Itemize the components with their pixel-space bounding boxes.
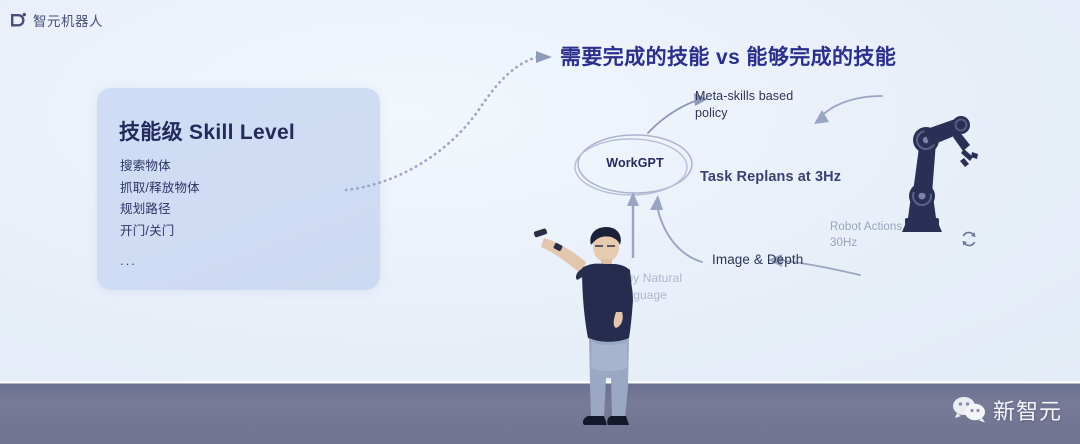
headline-text: 需要完成的技能 vs 能够完成的技能: [560, 46, 896, 69]
label-task-replans: Task Replans at 3Hz: [700, 169, 841, 185]
brand-logo: 智元机器人: [10, 10, 103, 30]
list-item-ellipsis: ...: [120, 250, 200, 272]
skill-level-card: 技能级 Skill Level 搜索物体 抓取/释放物体 规划路径 开门/关门 …: [97, 88, 380, 290]
watermark-text: 新智元: [993, 394, 1062, 426]
skill-card-title: 技能级 Skill Level: [119, 116, 295, 146]
wechat-bubbles-icon: [952, 396, 986, 424]
skill-card-list: 搜索物体 抓取/释放物体 规划路径 开门/关门 ...: [120, 156, 200, 272]
label-image-depth: Image & Depth: [712, 250, 803, 269]
list-item: 抓取/释放物体: [120, 178, 200, 200]
node-workgpt: WorkGPT: [580, 156, 690, 170]
list-item: 搜索物体: [120, 156, 200, 178]
list-item: 规划路径: [120, 199, 200, 221]
watermark: 新智元: [952, 394, 1062, 426]
stage-scene: 智元机器人 技能级 Skill Level 搜索物体 抓取/释放物体 规划路径 …: [0, 0, 1080, 444]
brand-name: 智元机器人: [33, 10, 103, 30]
page-title: 需要完成的技能 vs 能够完成的技能: [560, 41, 896, 71]
agibot-d-mark-icon: [10, 12, 27, 29]
label-meta-skills-policy: Meta-skills based policy: [695, 88, 815, 121]
robot-arm-icon: [880, 100, 990, 240]
presenter-remote-icon: [533, 228, 547, 238]
list-item: 开门/关门: [120, 221, 200, 243]
presenter-figure: [532, 218, 662, 433]
